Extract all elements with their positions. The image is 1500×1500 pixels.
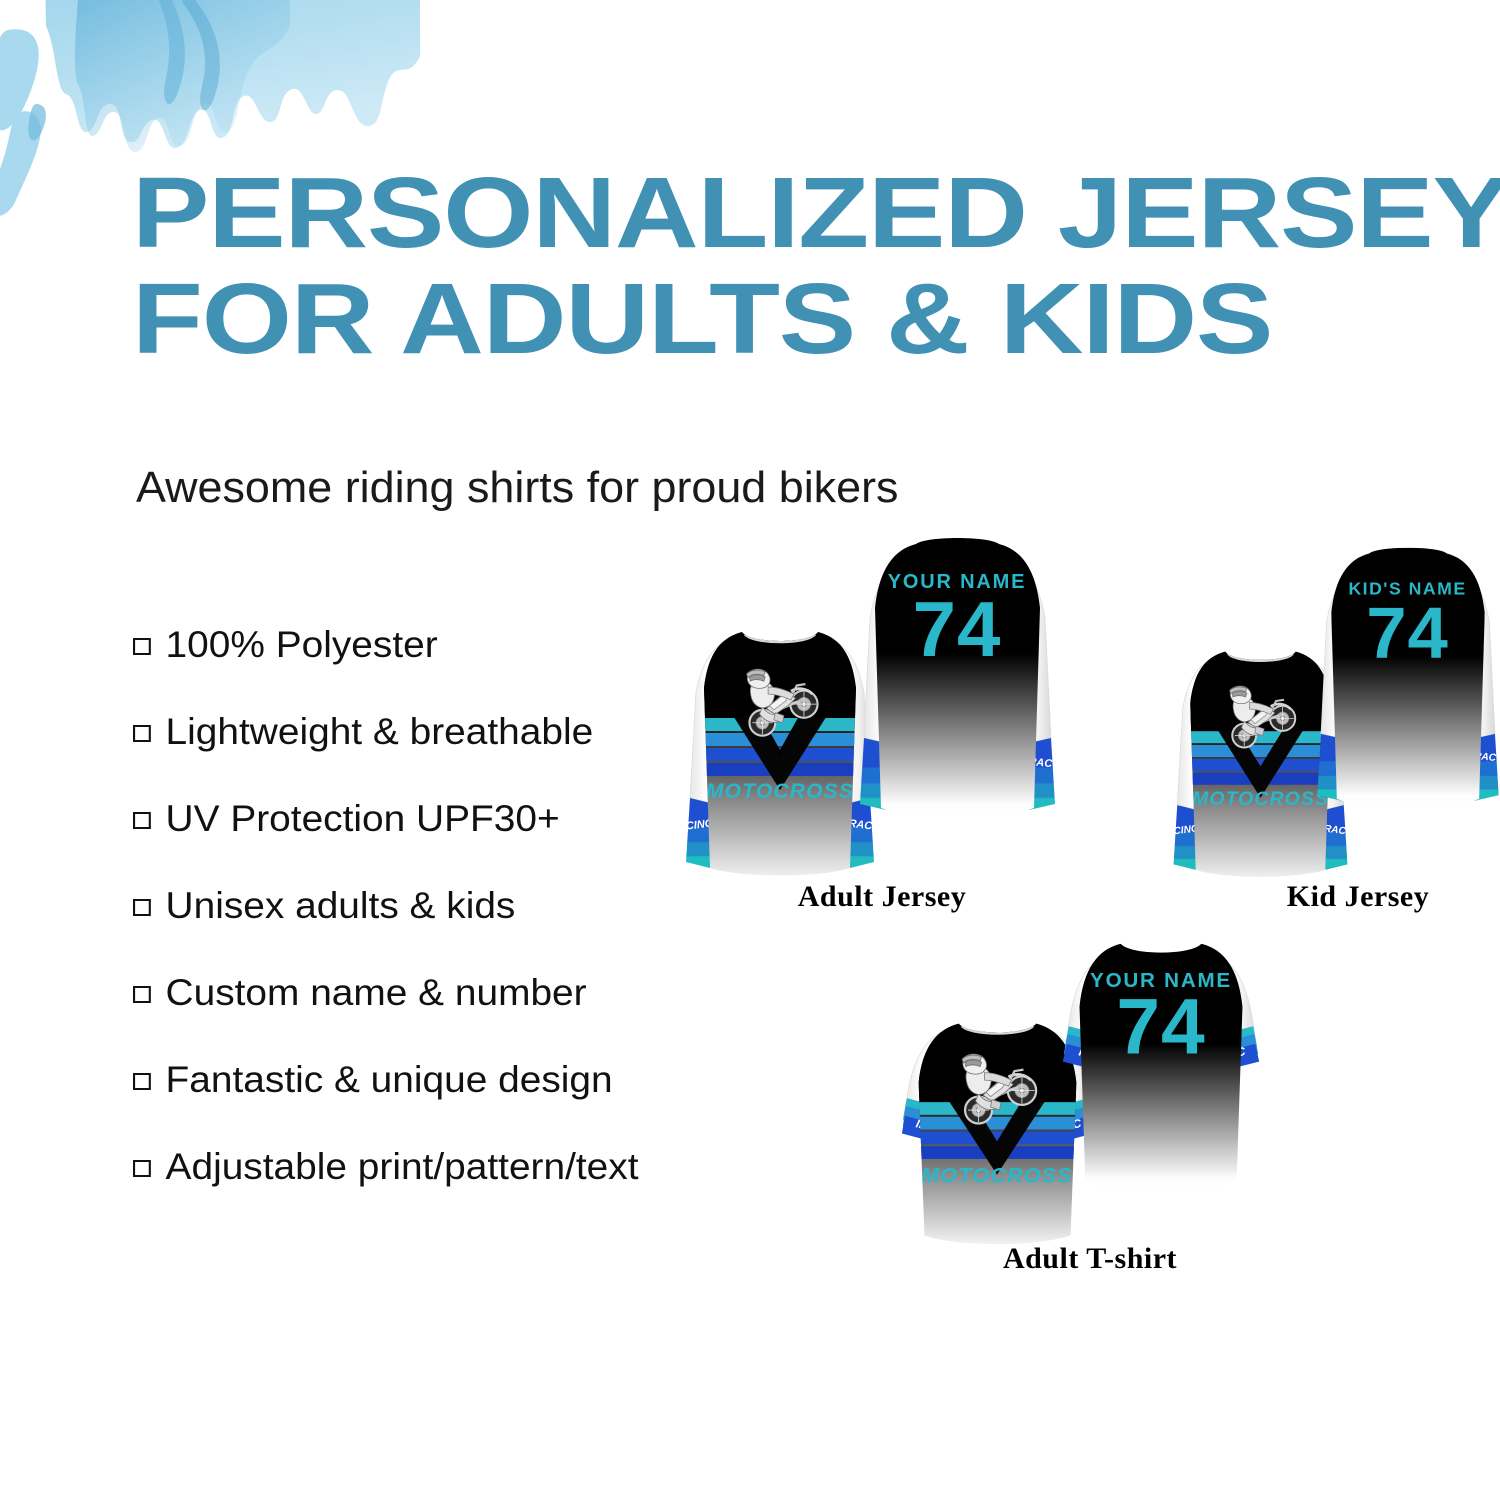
- square-outline-icon: [133, 986, 151, 1003]
- back-number-text: 74: [1366, 593, 1449, 674]
- feature-label: Fantastic & unique design: [166, 1061, 613, 1098]
- product-label: Adult Jersey: [672, 880, 1092, 914]
- tshirt-body: YOUR NAME 74: [1050, 930, 1271, 1200]
- square-outline-icon: [133, 812, 151, 829]
- feature-label: Lightweight & breathable: [166, 713, 594, 750]
- square-outline-icon: [133, 1073, 151, 1090]
- back-number-text: 74: [913, 585, 1002, 673]
- square-outline-icon: [133, 638, 151, 655]
- headline-line-1: PERSONALIZED JERSEY: [132, 160, 1500, 266]
- adult-jersey-back: RAC YOUR NAME 74: [850, 528, 1065, 828]
- product-adult-tshirt[interactable]: ING RAC MOTOCROSS: [890, 930, 1290, 1290]
- motocross-wordmark: MOTOCROSS: [706, 780, 854, 803]
- square-outline-icon: [133, 1160, 151, 1177]
- square-outline-icon: [133, 725, 151, 742]
- jersey-body: KID'S NAME 74: [1308, 538, 1500, 817]
- square-outline-icon: [133, 899, 151, 916]
- product-label: Kid Jersey: [1168, 880, 1500, 914]
- feature-label: 100% Polyester: [166, 626, 438, 663]
- feature-label: Adjustable print/pattern/text: [166, 1148, 639, 1185]
- list-item: Fantastic & unique design: [133, 1061, 826, 1098]
- headline-line-2: FOR ADULTS & KIDS: [132, 266, 1500, 372]
- page-headline: PERSONALIZED JERSEY FOR ADULTS & KIDS: [132, 160, 1500, 372]
- product-adult-jersey[interactable]: CING RAC: [672, 528, 1092, 918]
- product-kid-jersey[interactable]: CING RAC MOTOCROSS: [1168, 528, 1500, 918]
- kid-jersey-back: RAC KID'S NAME 74: [1308, 528, 1500, 828]
- jersey-body: YOUR NAME 74: [850, 528, 1065, 828]
- page-subtitle: Awesome riding shirts for proud bikers: [136, 463, 898, 513]
- list-item: Custom name & number: [133, 974, 826, 1011]
- feature-label: UV Protection UPF30+: [166, 800, 560, 837]
- product-label: Adult T-shirt: [890, 1242, 1290, 1276]
- feature-label: Custom name & number: [166, 974, 587, 1011]
- back-number-text: 74: [1116, 983, 1205, 1071]
- list-item: Adjustable print/pattern/text: [133, 1148, 826, 1185]
- adult-tshirt-back: ING RAC YOUR NAME 74: [1048, 930, 1273, 1200]
- feature-label: Unisex adults & kids: [166, 887, 516, 924]
